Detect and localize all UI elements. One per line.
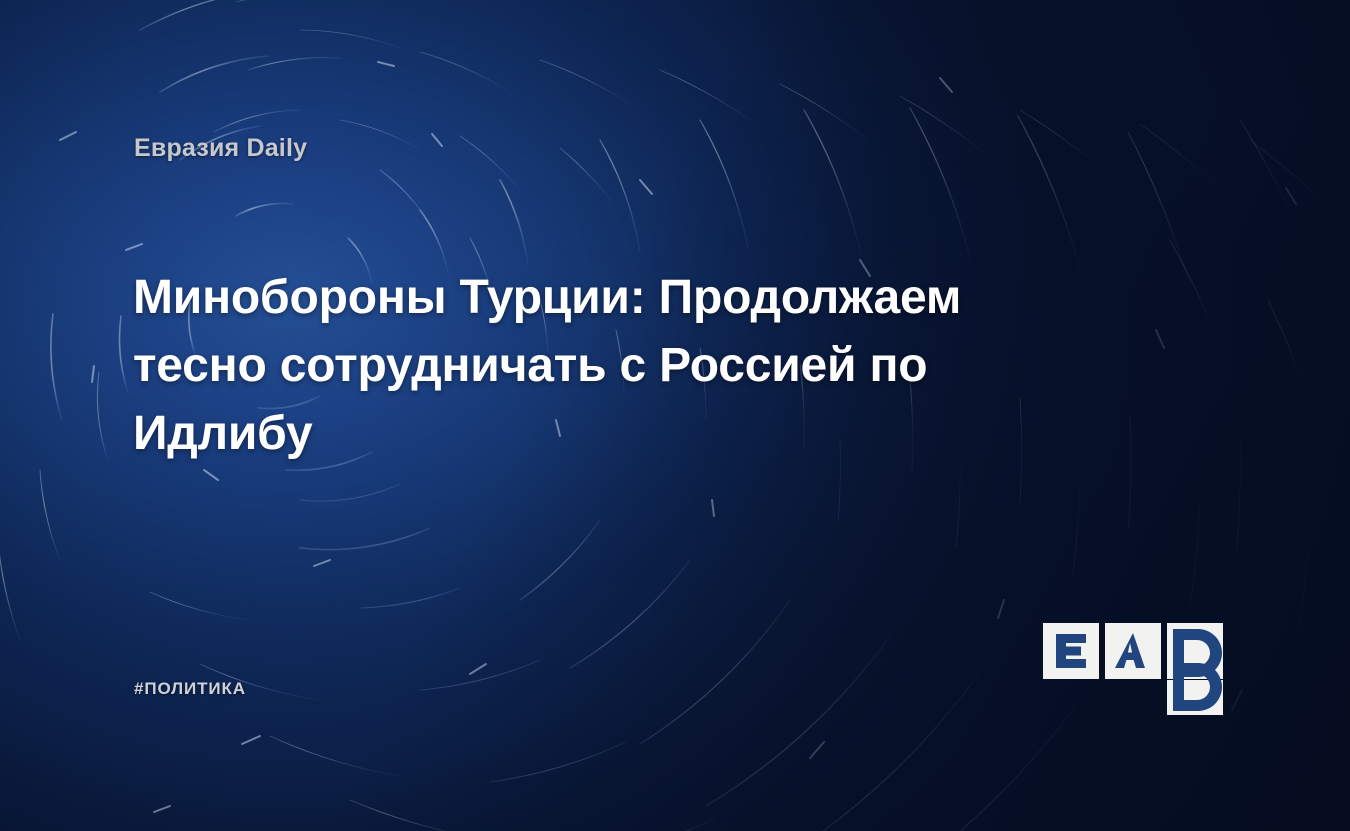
ead-logo	[1043, 623, 1223, 715]
category-tag: #ПОЛИТИКА	[134, 679, 246, 699]
news-card: Евразия Daily Минобороны Турции: Продолж…	[0, 0, 1350, 831]
brand-wordmark: Евразия Daily	[134, 134, 307, 163]
headline: Минобороны Турции: Продолжаем тесно сотр…	[133, 264, 1093, 468]
